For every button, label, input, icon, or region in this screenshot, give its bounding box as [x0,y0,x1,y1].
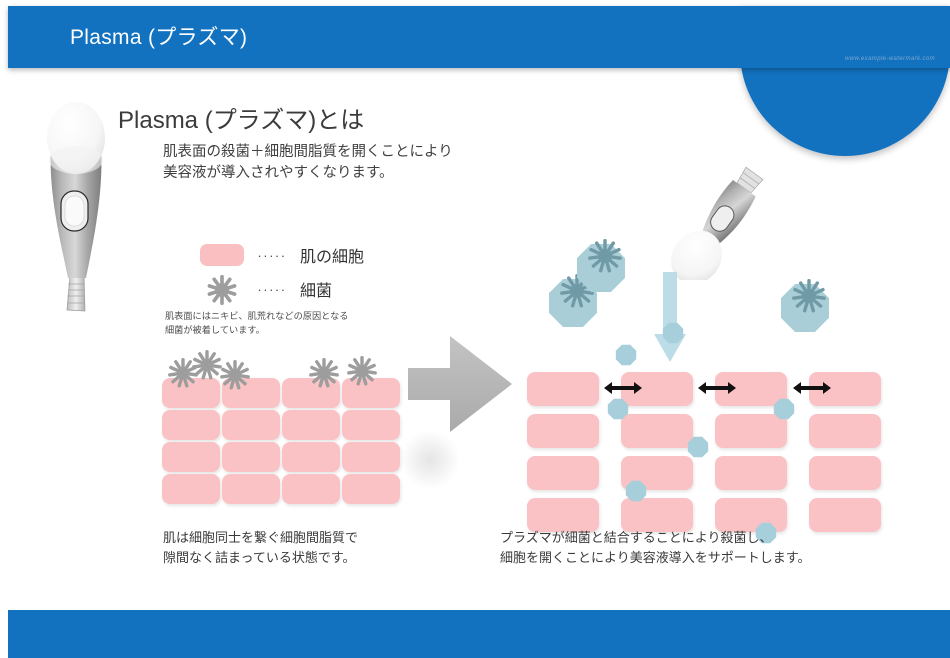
skin-cell [809,498,881,532]
skin-cell [342,474,400,504]
subtitle-line-2: 美容液が導入されやすくなります。 [163,163,453,184]
plasma-particle-icon [773,398,795,420]
bacteria-icon [345,354,379,388]
cell-gap-arrow-icon [603,380,643,396]
bacteria-starburst-icon [200,274,244,304]
caption-right-line-1: プラズマが細菌と結合することにより殺菌し、 [500,528,810,548]
skin-cell [162,474,220,504]
bacteria-icon [307,356,341,390]
subtitle-line-1: 肌表面の殺菌＋細胞間脂質を開くことにより [163,142,453,163]
plasma-particle-icon [662,322,684,344]
skin-cell [222,442,280,472]
caption-right: プラズマが細菌と結合することにより殺菌し、 細胞を開くことにより美容液導入をサポ… [500,528,810,567]
skin-cell [282,410,340,440]
skin-cell [162,442,220,472]
skin-cell [282,442,340,472]
legend-note: 肌表面にはニキビ、肌荒れなどの原因となる 細菌が被着しています。 [165,310,348,338]
skin-cell [809,456,881,490]
skin-cell [527,414,599,448]
skin-cell [527,456,599,490]
caption-left: 肌は細胞同士を繋ぐ細胞間脂質で 隙間なく詰まっている状態です。 [163,528,358,567]
skin-cell [342,410,400,440]
legend-item-skin-cell: ····· 肌の細胞 [200,238,364,272]
plasma-emission-arrow-icon [652,272,688,364]
skin-cell [527,498,599,532]
legend-label-bacteria: 細菌 [300,277,332,301]
legend-dots: ····· [252,282,292,297]
page-subtitle: 肌表面の殺菌＋細胞間脂質を開くことにより 美容液が導入されやすくなります。 [163,142,453,184]
skin-cell [527,372,599,406]
plasma-particle-icon [607,398,629,420]
page-title: Plasma (プラズマ)とは [118,100,364,135]
pink-rounded-rect-icon [200,244,244,266]
legend-dots: ····· [252,248,292,263]
caption-left-line-1: 肌は細胞同士を繋ぐ細胞間脂質で [163,528,358,548]
legend-note-line-1: 肌表面にはニキビ、肌荒れなどの原因となる [165,310,348,324]
plasma-particle-icon [687,436,709,458]
skin-cell [222,410,280,440]
background-smudge [400,430,460,490]
slide-left-margin [0,0,8,658]
caption-right-line-2: 細胞を開くことにより美容液導入をサポートします。 [500,548,810,568]
legend-note-line-2: 細菌が被着しています。 [165,324,348,338]
transition-arrow-icon [404,332,516,436]
plasma-particle-icon [625,480,647,502]
plasma-device-tilted [655,160,785,280]
plasma-device-upright [30,98,126,313]
legend-item-bacteria: ····· 細菌 [200,272,364,306]
skin-cell [621,414,693,448]
skin-cell [162,410,220,440]
legend: ····· 肌の細胞 [200,238,364,306]
plasma-particle-icon [615,344,637,366]
skin-cell [621,498,693,532]
cell-gap-arrow-icon [697,380,737,396]
header-title: Plasma (プラズマ) [70,21,247,51]
header-watermark: www.example-watermark.com [845,56,935,62]
skin-cell [715,456,787,490]
bacteria-icon [218,358,252,392]
legend-label-skin-cell: 肌の細胞 [300,243,364,267]
killed-bacteria-icon [779,282,837,340]
slide-canvas: Plasma (プラズマ) www.example-watermark.com [0,0,950,658]
skin-cell [342,442,400,472]
cell-gap-arrow-icon [792,380,832,396]
skin-cell [809,414,881,448]
killed-bacteria-icon [575,242,633,300]
footer-bar [8,610,950,658]
skin-cell [222,474,280,504]
skin-cell [282,474,340,504]
caption-left-line-2: 隙間なく詰まっている状態です。 [163,548,358,568]
